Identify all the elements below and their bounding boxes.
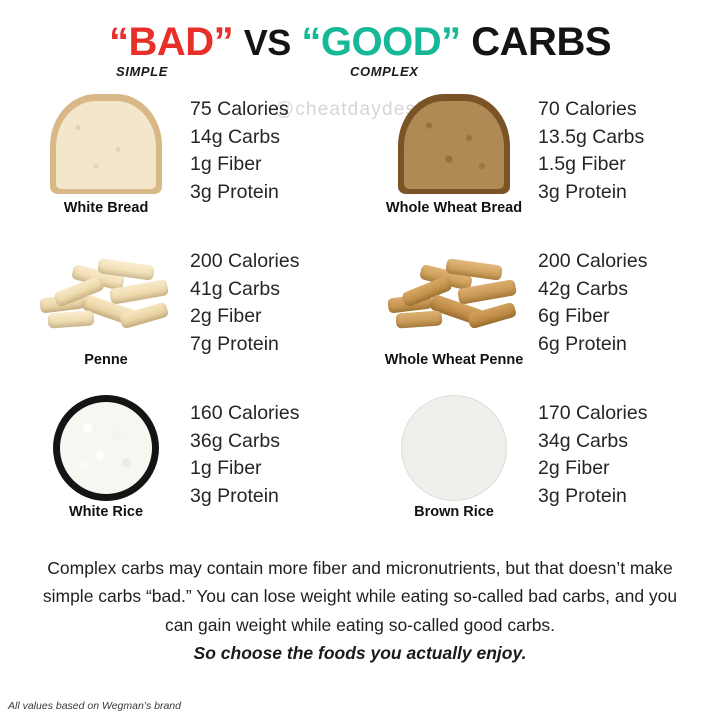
fiber-value: 1g Fiber	[190, 455, 299, 483]
rice-bowl-icon	[53, 395, 159, 501]
fiber-value: 6g Fiber	[538, 303, 647, 331]
food-label: Whole Wheat Bread	[386, 200, 522, 216]
footer-paragraph: Complex carbs may contain more fiber and…	[40, 554, 680, 639]
rice-grains	[60, 402, 152, 494]
food-label: Penne	[84, 352, 128, 368]
protein-value: 3g Protein	[190, 483, 299, 511]
comparison-rows: White Bread 75 Calories 14g Carbs 1g Fib…	[0, 90, 720, 546]
cell-whole-wheat-bread: Whole Wheat Bread 70 Calories 13.5g Carb…	[360, 90, 720, 242]
table-row: White Bread 75 Calories 14g Carbs 1g Fib…	[0, 90, 720, 242]
cell-brown-rice: Brown Rice 170 Calories 34g Carbs 2g Fib…	[360, 394, 720, 546]
footer-copy: Complex carbs may contain more fiber and…	[0, 554, 720, 664]
fiber-value: 1g Fiber	[190, 151, 289, 179]
rice-bowl-icon	[401, 395, 507, 501]
rice-grains	[407, 401, 501, 495]
white-rice-stats: 160 Calories 36g Carbs 1g Fiber 3g Prote…	[176, 394, 299, 511]
source-note: All values based on Wegman’s brand	[8, 700, 181, 712]
calories-value: 200 Calories	[538, 248, 647, 276]
title-block: “BAD” VS “GOOD” CARBS SIMPLE COMPLEX	[0, 0, 720, 84]
carbs-value: 34g Carbs	[538, 428, 647, 456]
open-quote-bad: “	[109, 20, 129, 64]
headline-carbs: CARBS	[471, 20, 611, 64]
close-quote-bad: ”	[214, 20, 234, 64]
headline: “BAD” VS “GOOD” CARBS	[0, 22, 720, 62]
table-row: Penne 200 Calories 41g Carbs 2g Fiber 7g…	[0, 242, 720, 394]
white-rice-figure: White Rice	[36, 394, 176, 520]
close-quote-good: ”	[441, 20, 461, 64]
protein-value: 3g Protein	[538, 179, 644, 207]
protein-value: 6g Protein	[538, 331, 647, 359]
headline-bad: BAD	[128, 20, 213, 64]
bread-slice-icon	[398, 94, 510, 194]
whole-wheat-bread-figure: Whole Wheat Bread	[384, 90, 524, 216]
headline-good: GOOD	[321, 20, 441, 64]
calories-value: 200 Calories	[190, 248, 299, 276]
cell-penne: Penne 200 Calories 41g Carbs 2g Fiber 7g…	[0, 242, 360, 394]
table-row: White Rice 160 Calories 36g Carbs 1g Fib…	[0, 394, 720, 546]
penne-image	[36, 242, 176, 350]
whole-wheat-bread-stats: 70 Calories 13.5g Carbs 1.5g Fiber 3g Pr…	[524, 90, 644, 207]
white-rice-image	[53, 394, 159, 502]
footer-emphasis: So choose the foods you actually enjoy.	[40, 643, 680, 664]
calories-value: 75 Calories	[190, 96, 289, 124]
penne-stats: 200 Calories 41g Carbs 2g Fiber 7g Prote…	[176, 242, 299, 359]
whole-wheat-bread-image	[398, 90, 510, 198]
fiber-value: 2g Fiber	[190, 303, 299, 331]
fiber-value: 2g Fiber	[538, 455, 647, 483]
bread-slice-icon	[50, 94, 162, 194]
food-label: Brown Rice	[414, 504, 494, 520]
carbs-value: 36g Carbs	[190, 428, 299, 456]
whole-wheat-penne-image	[384, 242, 524, 350]
calories-value: 70 Calories	[538, 96, 644, 124]
protein-value: 3g Protein	[538, 483, 647, 511]
whole-wheat-penne-stats: 200 Calories 42g Carbs 6g Fiber 6g Prote…	[524, 242, 647, 359]
cell-whole-wheat-penne: Whole Wheat Penne 200 Calories 42g Carbs…	[360, 242, 720, 394]
white-bread-stats: 75 Calories 14g Carbs 1g Fiber 3g Protei…	[176, 90, 289, 207]
protein-value: 7g Protein	[190, 331, 299, 359]
calories-value: 160 Calories	[190, 400, 299, 428]
white-bread-image	[50, 90, 162, 198]
carbs-value: 41g Carbs	[190, 276, 299, 304]
white-bread-figure: White Bread	[36, 90, 176, 216]
fiber-value: 1.5g Fiber	[538, 151, 644, 179]
penne-pile-icon	[384, 250, 524, 342]
whole-wheat-penne-figure: Whole Wheat Penne	[384, 242, 524, 368]
penne-pile-icon	[36, 250, 176, 342]
subtitle-simple: SIMPLE	[116, 64, 168, 79]
brown-rice-image	[401, 394, 507, 502]
calories-value: 170 Calories	[538, 400, 647, 428]
food-label: Whole Wheat Penne	[385, 352, 524, 368]
brown-rice-stats: 170 Calories 34g Carbs 2g Fiber 3g Prote…	[524, 394, 647, 511]
subtitle-row: SIMPLE COMPLEX	[0, 64, 720, 84]
subtitle-complex: COMPLEX	[350, 64, 418, 79]
penne-figure: Penne	[36, 242, 176, 368]
food-label: White Rice	[69, 504, 143, 520]
open-quote-good: “	[301, 20, 321, 64]
headline-vs: VS	[244, 22, 291, 63]
carbs-value: 13.5g Carbs	[538, 124, 644, 152]
brown-rice-figure: Brown Rice	[384, 394, 524, 520]
protein-value: 3g Protein	[190, 179, 289, 207]
cell-white-rice: White Rice 160 Calories 36g Carbs 1g Fib…	[0, 394, 360, 546]
cell-white-bread: White Bread 75 Calories 14g Carbs 1g Fib…	[0, 90, 360, 242]
food-label: White Bread	[64, 200, 149, 216]
carbs-value: 42g Carbs	[538, 276, 647, 304]
carbs-value: 14g Carbs	[190, 124, 289, 152]
